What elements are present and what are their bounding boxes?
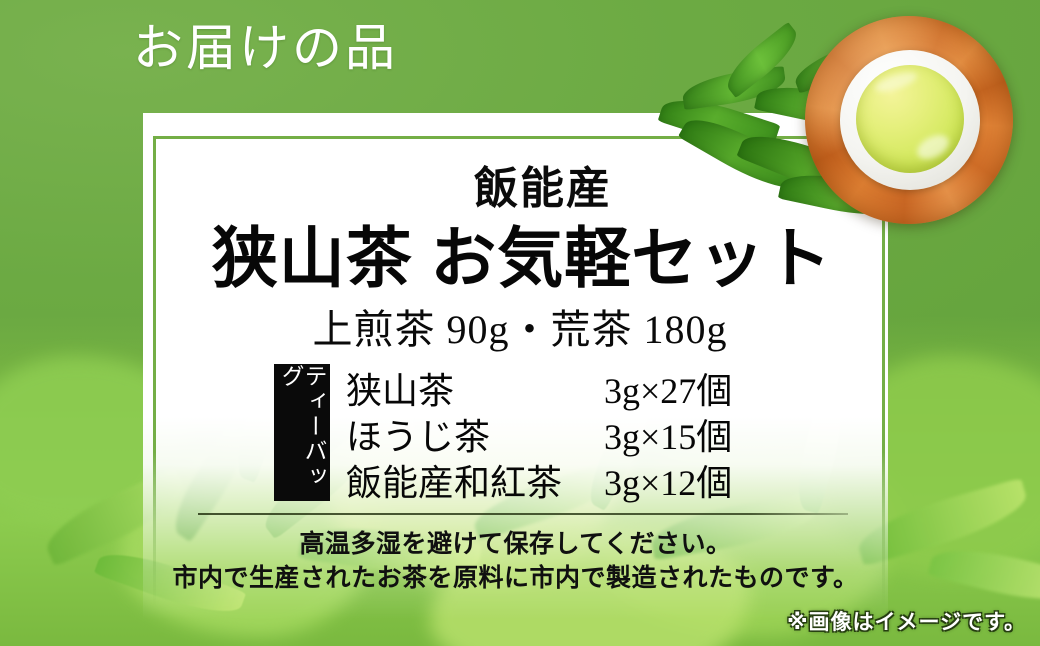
product-banner: お届けの品 飯能産 狭山茶 お気軽セット 上煎茶 90g・荒茶 180g ティー… — [0, 0, 1040, 646]
storage-note: 高温多湿を避けて保存してください。 — [143, 528, 888, 562]
notes-block: 高温多湿を避けて保存してください。 市内で生産されたお茶を原料に市内で製造された… — [143, 528, 888, 596]
teabag-tag: ティーバッグ — [274, 364, 330, 501]
image-disclaimer: ※画像はイメージです。 — [787, 606, 1026, 636]
teabag-list: 狭山茶 3g×27個 ほうじ茶 3g×15個 飯能産和紅茶 3g×12個 — [346, 362, 776, 500]
teabag-qty: 3g×15個 — [604, 408, 732, 460]
teabag-block: ティーバッグ 狭山茶 3g×27個 ほうじ茶 3g×15個 飯能産和紅茶 3g×… — [274, 364, 774, 504]
page-title: お届けの品 — [133, 21, 398, 76]
weights-line: 上煎茶 90g・荒茶 180g — [0, 297, 1040, 355]
teabag-name: 狭山茶 — [346, 362, 604, 414]
production-note: 市内で生産されたお茶を原料に市内で製造されたものです。 — [143, 562, 888, 596]
table-row: 飯能産和紅茶 3g×12個 — [346, 454, 776, 500]
table-row: 狭山茶 3g×27個 — [346, 362, 776, 408]
teabag-qty: 3g×27個 — [604, 362, 732, 414]
teabag-qty: 3g×12個 — [604, 454, 732, 506]
teabag-name: 飯能産和紅茶 — [346, 454, 604, 506]
teabag-tag-label: ティーバッグ — [279, 364, 325, 501]
section-divider — [198, 513, 848, 515]
table-row: ほうじ茶 3g×15個 — [346, 408, 776, 454]
product-title: 狭山茶 お気軽セット — [0, 205, 1040, 301]
teabag-name: ほうじ茶 — [346, 408, 604, 460]
